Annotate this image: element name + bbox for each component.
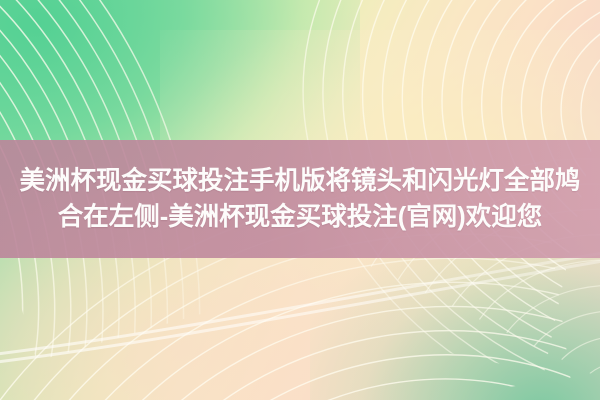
promo-banner: 美洲杯现金买球投注手机版将镜头和闪光灯全部鸠 合在左侧-美洲杯现金买球投注(官网… [0,0,600,400]
title-band: 美洲杯现金买球投注手机版将镜头和闪光灯全部鸠 合在左侧-美洲杯现金买球投注(官网… [0,140,600,258]
title-line-1: 美洲杯现金买球投注手机版将镜头和闪光灯全部鸠 [19,163,580,199]
title-line-2: 合在左侧-美洲杯现金买球投注(官网)欢迎您 [58,199,542,235]
